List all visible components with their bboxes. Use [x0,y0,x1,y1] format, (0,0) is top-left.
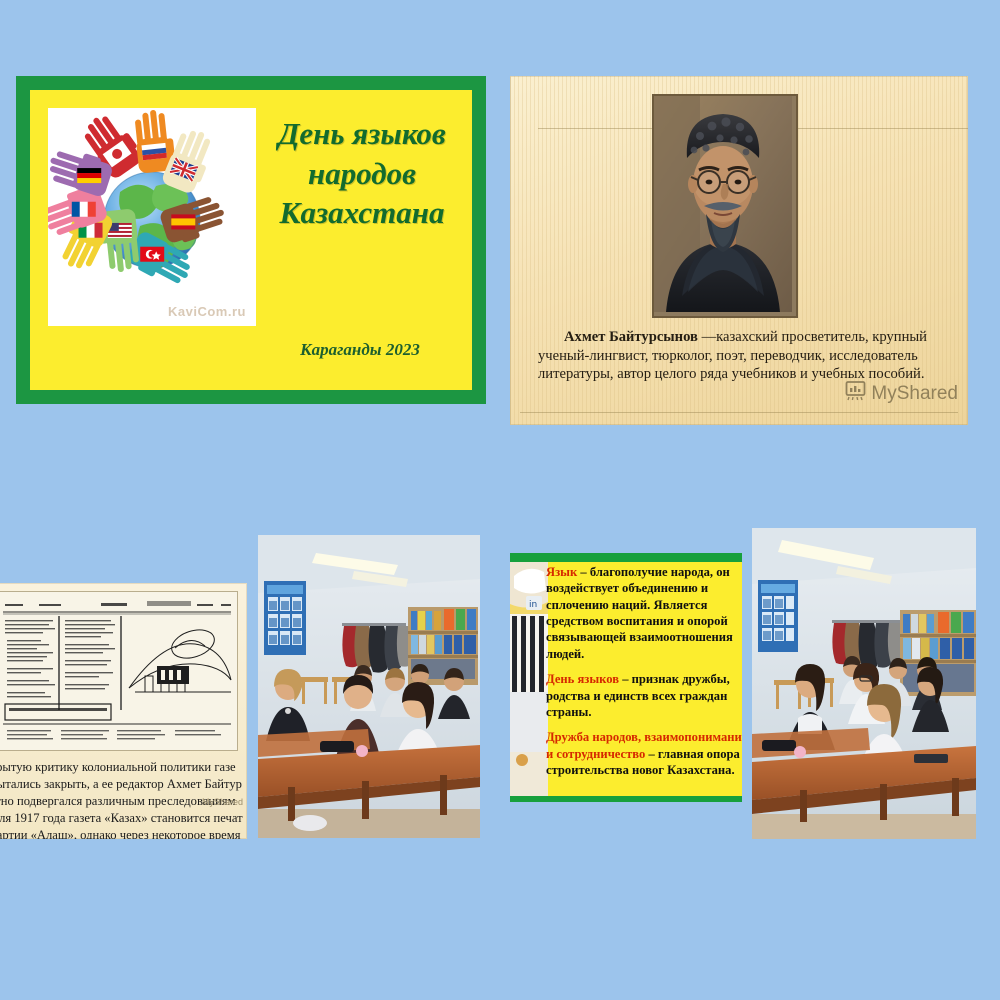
myshared-watermark: MyShared [845,380,958,407]
quote-paragraph-3: Дружба народов, взаимопонимание и сотруд… [546,729,742,778]
slide-title-inner: KaviCom.ru День языков народов Казахстан… [30,90,472,390]
title-line-2: народов [252,154,472,194]
quote-lead-1: Язык [546,565,577,579]
collage-canvas: KaviCom.ru День языков народов Казахстан… [0,0,1000,1000]
divider-bottom [520,412,958,413]
classroom-photo-left [258,535,480,838]
title-line-3: Казахстана [252,193,472,233]
quote-paragraph-2: День языков – признак дружбы, родства и … [546,671,742,720]
title-line-1: День языков [252,114,472,154]
newspaper-line-4: юля 1917 года газета «Казах» становится … [0,810,245,827]
baitursynov-portrait [652,94,798,318]
title-subtitle: Караганды 2023 [230,340,490,360]
slide-newspaper: крытую критику колониальной политики газ… [0,583,247,839]
quote-paragraph-1: Язык – благополучие народа, он воздейств… [546,564,742,662]
newspaper-line-5: партии «Алаш», однако через некоторое вр… [0,827,245,839]
classroom-photo-right [752,528,976,839]
newspaper-scan-image [0,591,238,751]
myshared-label: MyShared [871,383,958,405]
slide-portrait: Ахмет Байтурсынов —казахский просветител… [510,76,968,425]
svg-text:in: in [529,600,537,610]
kavicom-watermark: KaviCom.ru [168,304,246,319]
portrait-caption: Ахмет Байтурсынов —казахский просветител… [538,328,952,384]
quote-rest-1: – благополучие народа, он воздействует о… [546,565,733,661]
myshared-icon [845,380,866,407]
hands-around-globe-icon: KaviCom.ru [48,108,256,326]
quotes-side-photo: in [510,562,548,796]
newspaper-line-1: крытую критику колониальной политики газ… [0,759,245,776]
slide-title: KaviCom.ru День языков народов Казахстан… [16,76,486,404]
slide-quotes: in Язык – благополучие народа, он воздей… [510,553,742,802]
page-title: День языков народов Казахстана [252,114,472,233]
myshared-watermark-small: MyShared [202,797,243,807]
quote-lead-2: День языков [546,672,619,686]
quotes-text: Язык – благополучие народа, он воздейств… [546,564,742,787]
portrait-name: Ахмет Байтурсынов [564,329,698,345]
newspaper-line-2: пытались закрыть, а ее редактор Ахмет Ба… [0,776,245,793]
